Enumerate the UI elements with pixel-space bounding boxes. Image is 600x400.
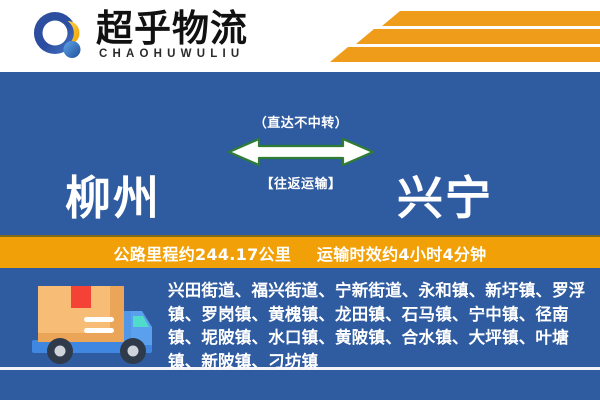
brand-name-cn: 超乎物流 [96,9,248,49]
header-bar: 超乎物流 CHAOHUWULIU [0,0,600,72]
round-trip-note: 【往返运输】 [225,173,377,192]
destination-city: 兴宁 [397,162,493,228]
logistics-route-banner: 超乎物流 CHAOHUWULIU 柳州 （直达不中转） 【往返运输】 兴宁 公路… [0,0,600,400]
duration-text: 运输时效约4小时4分钟 [317,245,487,264]
brand-name-en: CHAOHUWULIU [99,48,244,60]
delivery-truck-icon [30,283,156,369]
route-info-bar: 公路里程约244.17公里 运输时效约4小时4分钟 [0,235,600,268]
double-headed-arrow-icon [225,135,377,169]
coverage-towns-list: 兴田街道、福兴街道、宁新街道、永和镇、新圩镇、罗浮镇、罗岗镇、黄槐镇、龙田镇、石… [168,279,592,373]
company-logo-icon [33,11,85,63]
stripe-1 [382,11,600,26]
origin-city: 柳州 [65,162,161,228]
stripe-2 [356,29,600,44]
stripe-3 [330,47,600,62]
info-bar-content: 公路里程约244.17公里 运输时效约4小时4分钟 [114,241,487,265]
route-panel: 柳州 （直达不中转） 【往返运输】 兴宁 [0,72,600,235]
route-middle: （直达不中转） 【往返运输】 [225,112,377,192]
decorative-stripes [330,0,600,72]
direct-service-note: （直达不中转） [225,112,377,131]
distance-text: 公路里程约244.17公里 [114,245,292,264]
